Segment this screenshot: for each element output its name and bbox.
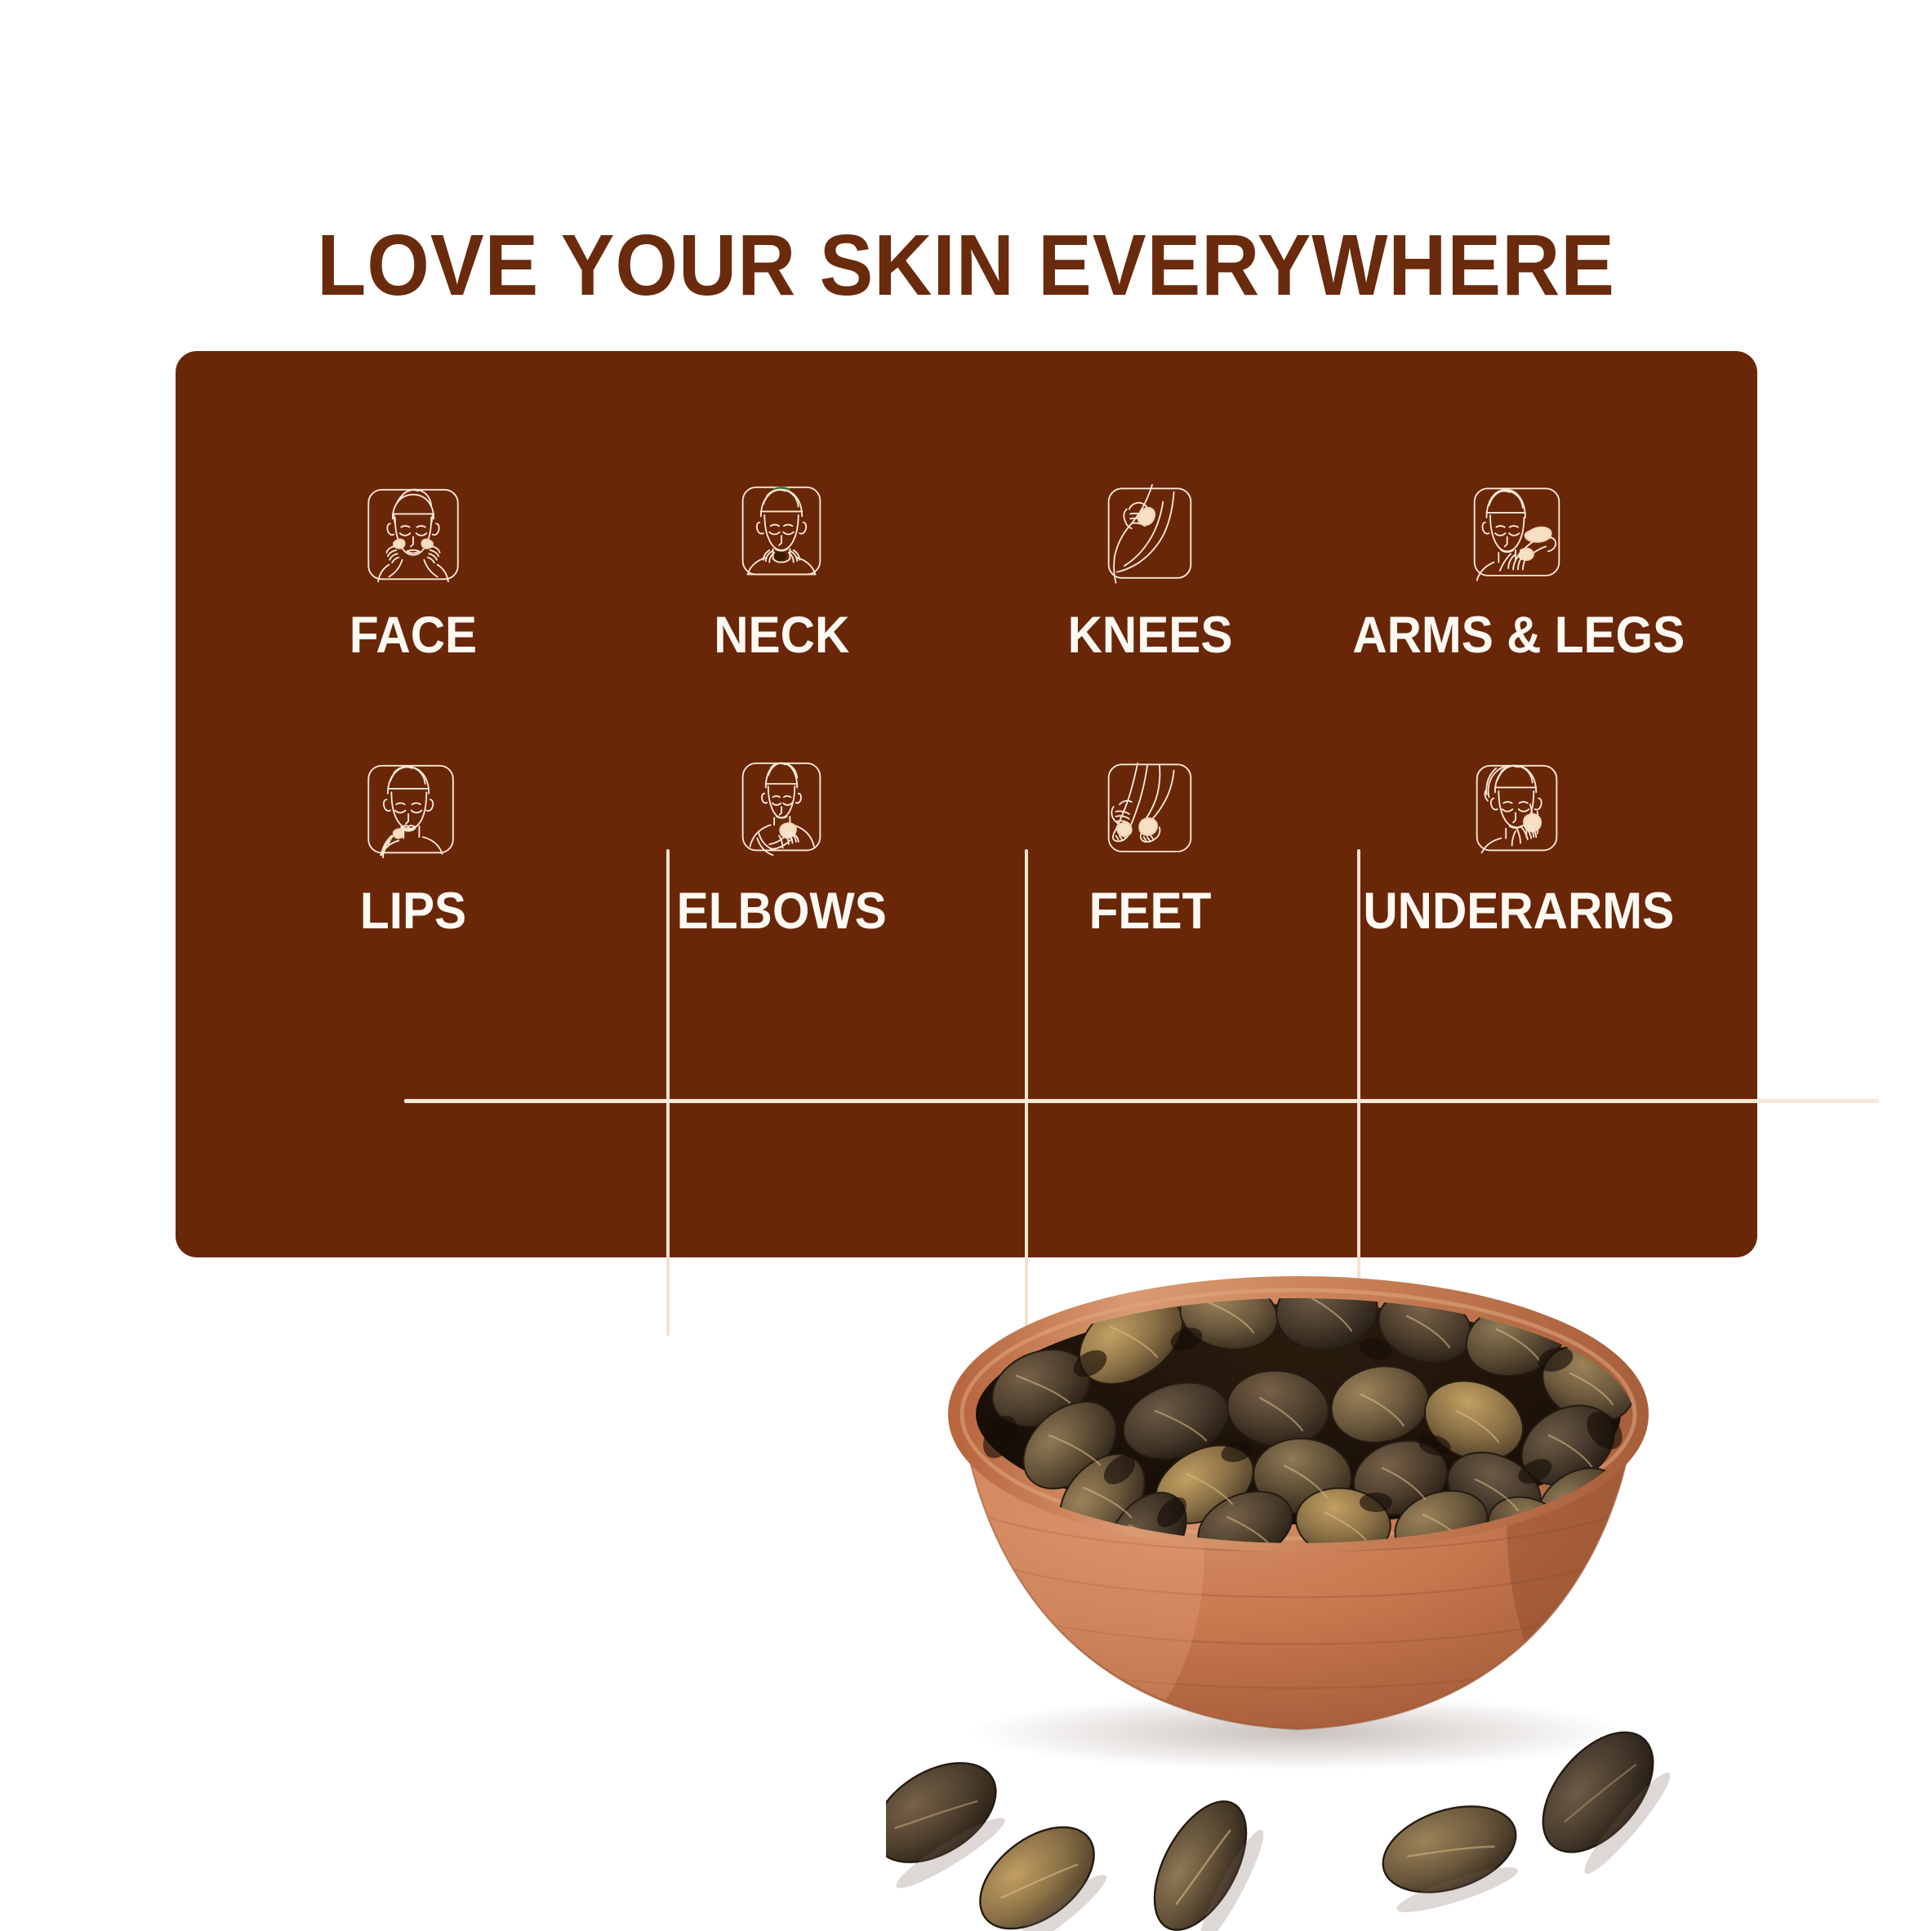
underarm-application-icon [1458, 754, 1578, 874]
face-cleansing-icon [353, 478, 474, 598]
benefit-item-lips: LIPS [229, 739, 597, 1000]
benefit-item-knees: KNEES [966, 478, 1334, 739]
knee-application-icon [1089, 478, 1210, 598]
foot-application-icon [1089, 754, 1210, 874]
benefit-label: LIPS [360, 886, 466, 937]
benefit-item-neck: NECK [597, 478, 965, 739]
lip-application-icon [353, 754, 474, 874]
benefit-item-underarms: UNDERARMS [1334, 739, 1703, 1000]
elbow-application-icon [721, 754, 842, 874]
benefit-label: NECK [714, 610, 849, 661]
neck-care-icon [721, 478, 842, 598]
benefit-item-arms-legs: ARMS & LEGS [1334, 478, 1703, 739]
benefit-label: FEET [1088, 886, 1211, 937]
haritaki-nuts-in-clay-bowl [886, 1094, 1711, 1931]
benefit-item-face: FACE [229, 478, 597, 739]
benefits-grid: FACE [229, 478, 1703, 1000]
arm-application-icon [1458, 478, 1578, 598]
benefit-label: ELBOWS [676, 886, 886, 937]
page-title: LOVE YOUR SKIN EVERYWHERE [68, 222, 1864, 309]
benefit-label: KNEES [1067, 610, 1232, 661]
benefit-item-feet: FEET [966, 739, 1334, 1000]
benefit-label: UNDERARMS [1363, 886, 1674, 937]
benefit-label: ARMS & LEGS [1352, 610, 1685, 661]
benefit-item-elbows: ELBOWS [597, 739, 965, 1000]
benefit-label: FACE [349, 610, 476, 661]
